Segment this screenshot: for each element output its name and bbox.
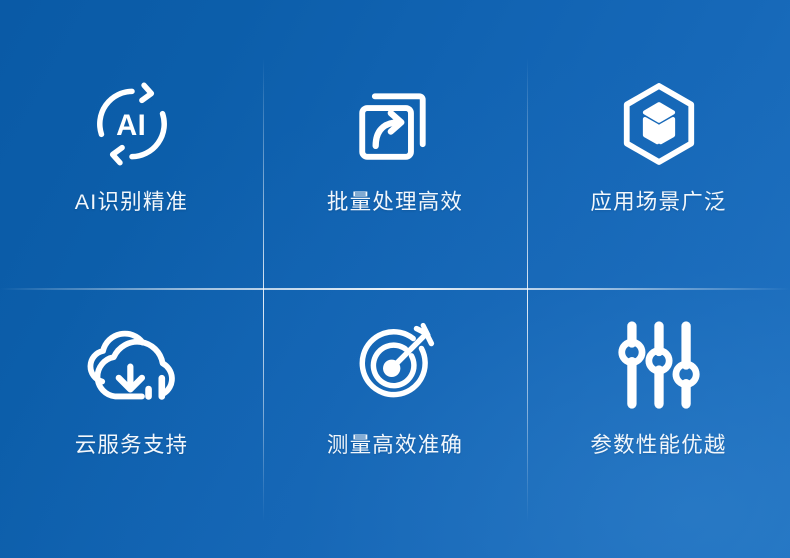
- feature-cell-application-scenarios[interactable]: 应用场景广泛: [527, 0, 790, 289]
- feature-label: AI识别精准: [75, 192, 189, 214]
- feature-cell-cloud-service[interactable]: 云服务支持: [0, 289, 263, 558]
- feature-cell-ai-recognition[interactable]: AI AI识别精准: [0, 0, 263, 289]
- sliders-icon: [607, 319, 711, 411]
- svg-text:AI: AI: [116, 110, 146, 142]
- feature-cell-parameter-performance[interactable]: 参数性能优越: [527, 289, 790, 558]
- feature-grid-panel: AI AI识别精准 批量处理高效: [0, 0, 790, 558]
- feature-label: 应用场景广泛: [590, 192, 726, 214]
- feature-label: 参数性能优越: [590, 435, 726, 457]
- cloud-download-chart-icon: [80, 319, 184, 411]
- stacked-squares-arrow-icon: [343, 78, 447, 170]
- feature-cell-measurement[interactable]: 测量高效准确: [263, 289, 527, 558]
- feature-label: 云服务支持: [75, 435, 189, 457]
- feature-label: 测量高效准确: [327, 435, 463, 457]
- target-arrow-icon: [343, 319, 447, 411]
- feature-label: 批量处理高效: [327, 192, 463, 214]
- ai-circular-arrows-icon: AI: [80, 78, 184, 170]
- feature-grid: AI AI识别精准 批量处理高效: [0, 0, 790, 558]
- hexagon-cube-icon: [607, 78, 711, 170]
- feature-cell-batch-processing[interactable]: 批量处理高效: [263, 0, 527, 289]
